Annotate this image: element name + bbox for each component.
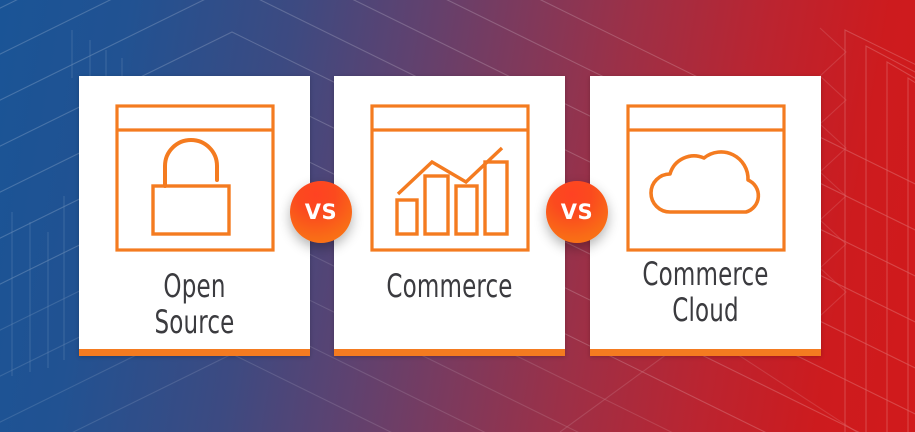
card-commerce[interactable]: Commerce: [334, 76, 565, 356]
bar-chart-with-trendline-in-browser-window-icon: [334, 104, 565, 252]
card-accent-bar: [79, 349, 310, 356]
card-label-line-2: Source: [102, 304, 287, 340]
vs-badge-1: VS: [290, 181, 352, 243]
card-label-commerce-cloud: Commerce Cloud: [613, 256, 798, 328]
card-label-line-2: Cloud: [613, 292, 798, 328]
vs-badge-label: VS: [305, 200, 337, 224]
card-commerce-cloud[interactable]: Commerce Cloud: [590, 76, 821, 356]
comparison-graphic: Open Source VS: [0, 0, 915, 432]
card-label-line-1: Commerce: [357, 268, 542, 304]
cloud-in-browser-window-icon: [590, 104, 821, 252]
card-label-commerce: Commerce: [357, 268, 542, 304]
card-open-source[interactable]: Open Source: [79, 76, 310, 356]
card-accent-bar: [334, 349, 565, 356]
card-label-line-1: Open: [102, 268, 287, 304]
card-label-open-source: Open Source: [102, 268, 287, 340]
card-label-line-1: Commerce: [613, 256, 798, 292]
vs-badge-2: VS: [546, 181, 608, 243]
unlocked-padlock-in-browser-window-icon: [79, 104, 310, 252]
card-accent-bar: [590, 349, 821, 356]
vs-badge-label: VS: [561, 200, 593, 224]
